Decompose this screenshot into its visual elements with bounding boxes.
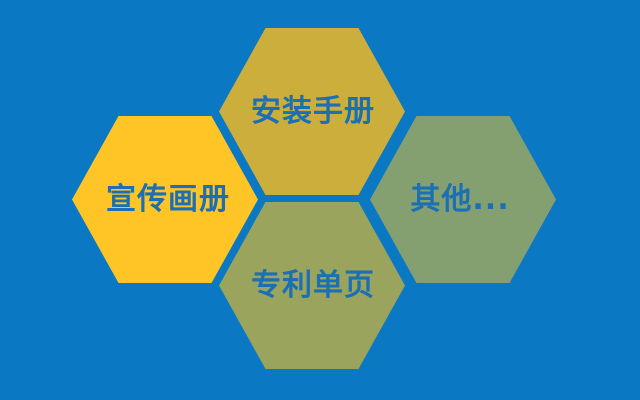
hexagon-patent[interactable] <box>219 202 405 369</box>
hexagon-other[interactable] <box>370 116 556 283</box>
hexagon-install[interactable] <box>219 28 405 195</box>
hexagon-promo[interactable] <box>72 116 258 283</box>
hexagon-cluster <box>0 0 640 400</box>
diagram-canvas: 宣传画册 安装手册 专利单页 其他... <box>0 0 640 400</box>
